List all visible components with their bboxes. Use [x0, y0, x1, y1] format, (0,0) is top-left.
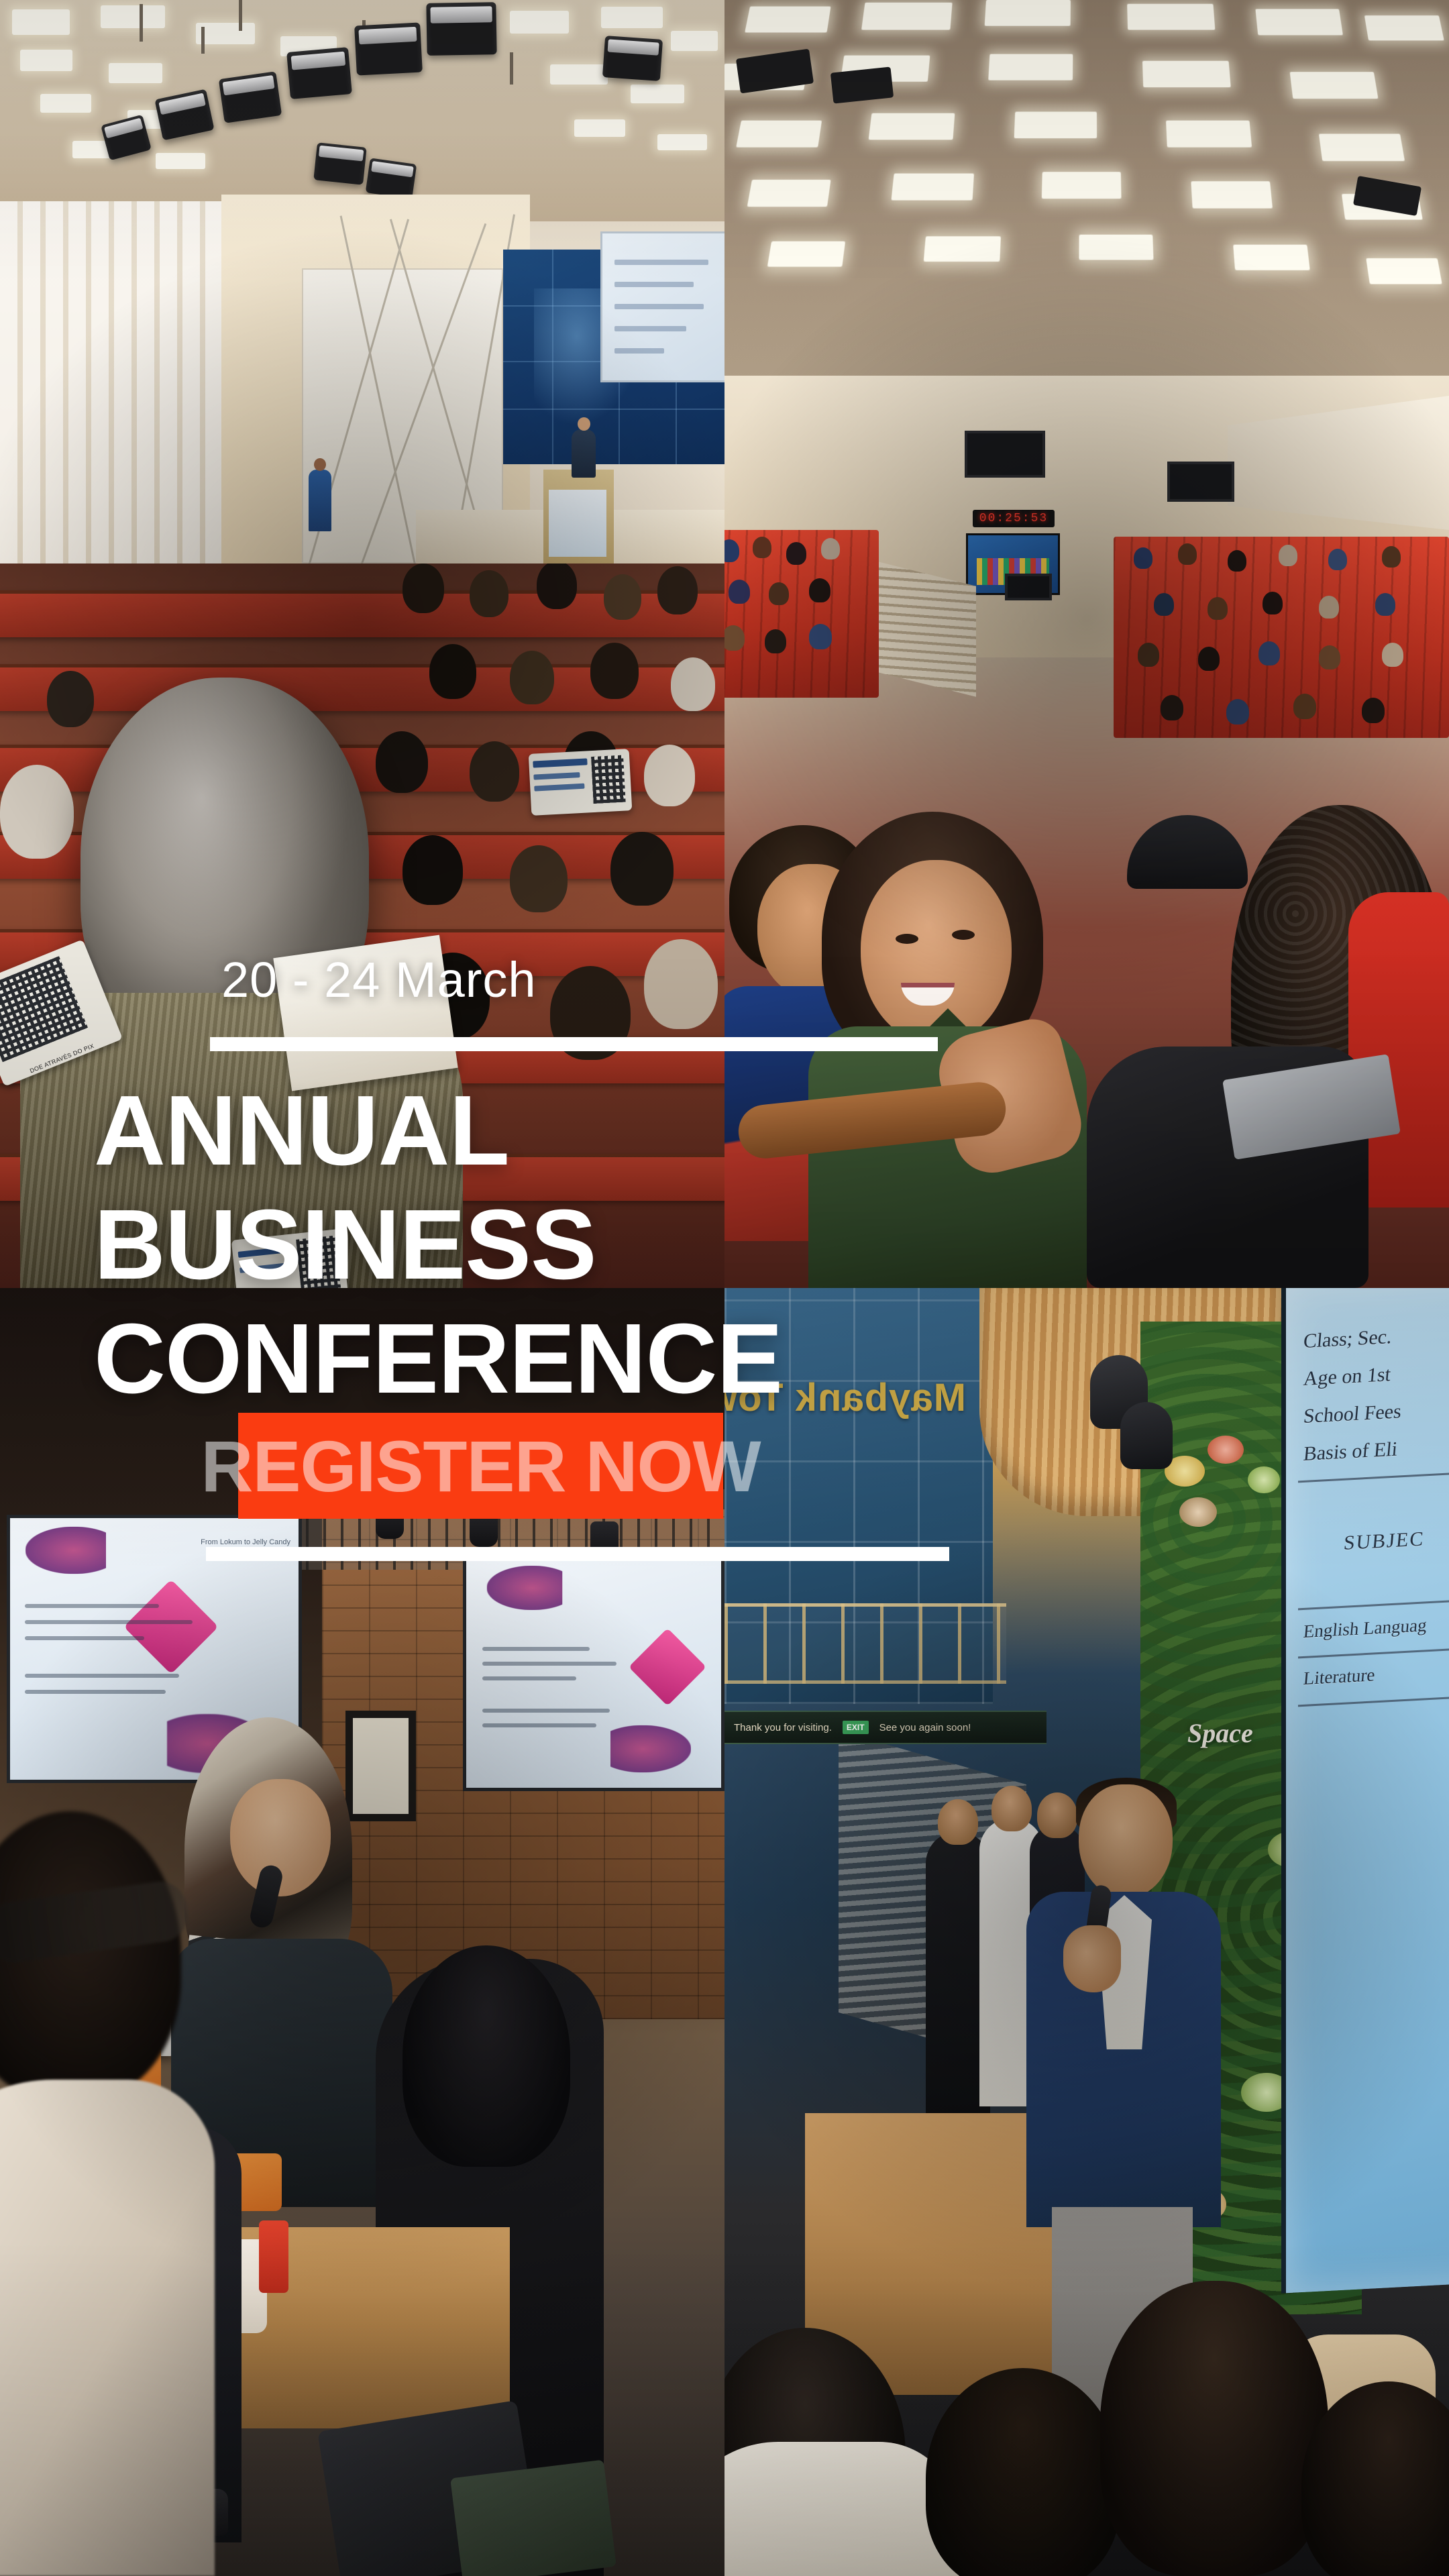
stage-speaker	[572, 429, 596, 478]
maybank-tower-sign: Maybank Tower	[745, 1375, 966, 1452]
program-booklet	[273, 935, 458, 1091]
podium	[543, 470, 614, 563]
slide-line: Basis of Eli	[1303, 1438, 1399, 1466]
stage-light	[219, 71, 282, 123]
audience-member-cap	[1127, 815, 1248, 889]
exit-signage-bar: Thank you for visiting. EXIT See you aga…	[724, 1711, 1046, 1744]
led-timer-display: 00:25:53	[973, 510, 1055, 527]
presentation-slide: Class; Sec. Age on 1st School Fees Basis…	[1281, 1288, 1449, 2294]
wall-monitor	[1167, 462, 1234, 502]
auditorium-scene: DOE ATRAVÉS DO PIX	[0, 0, 724, 1288]
qr-code-sticker	[529, 749, 633, 816]
slide-line: SUBJEC	[1343, 1527, 1426, 1554]
seating-block-right	[1114, 537, 1449, 738]
poster-canvas: DOE ATRAVÉS DO PIX	[0, 0, 1449, 2576]
slide-line: School Fees	[1303, 1400, 1403, 1428]
stage-light	[354, 22, 423, 75]
stage-light	[313, 142, 366, 184]
speaker-hand	[1063, 1925, 1121, 1992]
foreground-audience-heads	[724, 2200, 1449, 2576]
slide-line: English Languag	[1303, 1615, 1428, 1642]
projection-screen-right	[463, 1550, 724, 1791]
stage-light	[602, 36, 663, 81]
foreground-shoulder	[0, 2080, 215, 2576]
balcony-railing	[724, 1603, 1006, 1684]
photo-top-right: 00:25:53	[724, 0, 1449, 1288]
atrium-event-scene: Maybank Tower Thank you for visiting. EX…	[724, 1288, 1449, 2576]
ceiling-monitor	[965, 431, 1045, 478]
seating-block-left	[724, 530, 879, 698]
photo-top-left: DOE ATRAVÉS DO PIX	[0, 0, 724, 1288]
register-now-button[interactable]: REGISTER NOW	[238, 1413, 723, 1519]
exit-sign-right-text: See you again soon!	[879, 1722, 971, 1733]
register-now-label: REGISTER NOW	[201, 1424, 760, 1508]
photo-bottom-right: Maybank Tower Thank you for visiting. EX…	[724, 1288, 1449, 2576]
exit-sign-left-text: Thank you for visiting.	[734, 1722, 832, 1733]
stage-light	[286, 47, 352, 99]
ceiling-speaker	[1120, 1402, 1173, 1469]
drink-can	[259, 2220, 288, 2293]
stage-assistant	[309, 470, 331, 531]
notebook	[450, 2460, 616, 2576]
slide-line: Class; Sec.	[1303, 1326, 1393, 1353]
side-wall	[0, 201, 221, 617]
projection-screen	[600, 231, 724, 382]
exit-badge: EXIT	[843, 1721, 869, 1734]
lecture-theatre-scene: 00:25:53	[724, 0, 1449, 1288]
slide-title: From Lokum to Jelly Candy	[201, 1538, 290, 1546]
slide-line: Literature	[1303, 1664, 1376, 1689]
side-monitor	[1005, 574, 1052, 600]
slide-line: Age on 1st	[1303, 1363, 1392, 1391]
stage-light	[426, 2, 496, 56]
stage-light	[366, 158, 417, 199]
